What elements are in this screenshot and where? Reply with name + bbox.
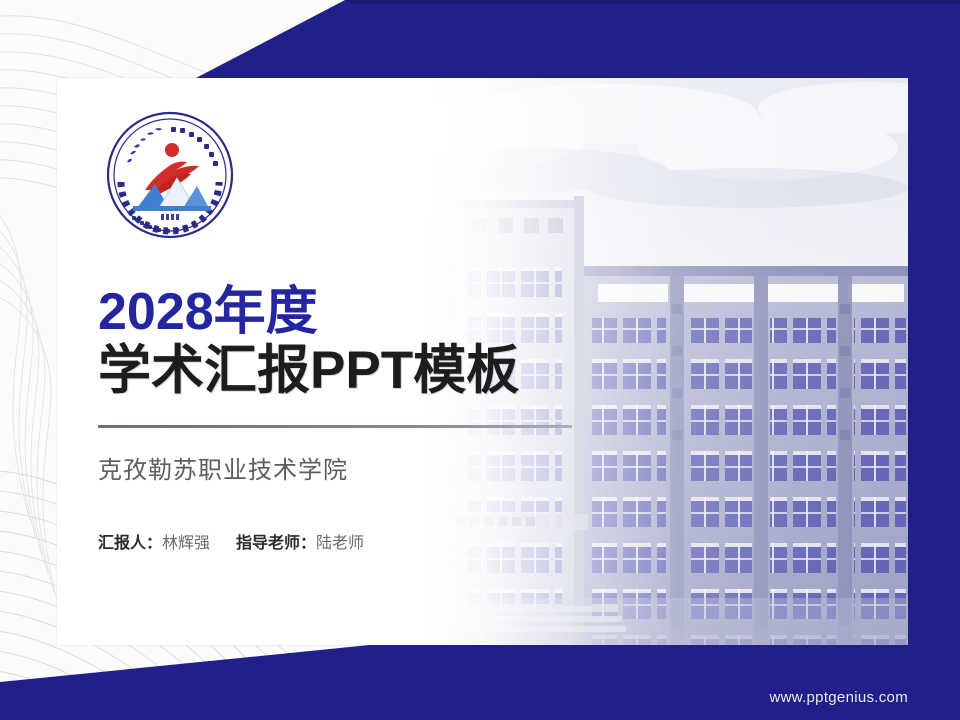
right-blue-band [908,0,960,720]
content-card: 2028年度 学术汇报PPT模板 克孜勒苏职业技术学院 汇报人：林辉强指导老师：… [57,78,908,645]
top-blue-diagonal-band [0,0,960,78]
presenter-line: 汇报人：林辉强指导老师：陆老师 [98,529,638,553]
advisor-name: 陆老师 [316,535,364,552]
college-logo [99,104,241,246]
school-name: 克孜勒苏职业技术学院 [98,450,638,485]
title-text-block: 2028年度 学术汇报PPT模板 克孜勒苏职业技术学院 汇报人：林辉强指导老师：… [98,284,638,553]
bottom-blue-diagonal-band [0,640,960,720]
reporter-name: 林辉强 [162,535,210,552]
page-title: 学术汇报PPT模板 [98,340,638,403]
presentation-slide: 2028年度 学术汇报PPT模板 克孜勒苏职业技术学院 汇报人：林辉强指导老师：… [0,0,960,720]
reporter-label: 汇报人： [98,535,162,552]
title-divider [98,425,572,428]
title-year: 2028年度 [98,284,638,340]
advisor-label: 指导老师： [236,535,316,552]
footer-website-url: www.pptgenius.com [770,689,909,706]
